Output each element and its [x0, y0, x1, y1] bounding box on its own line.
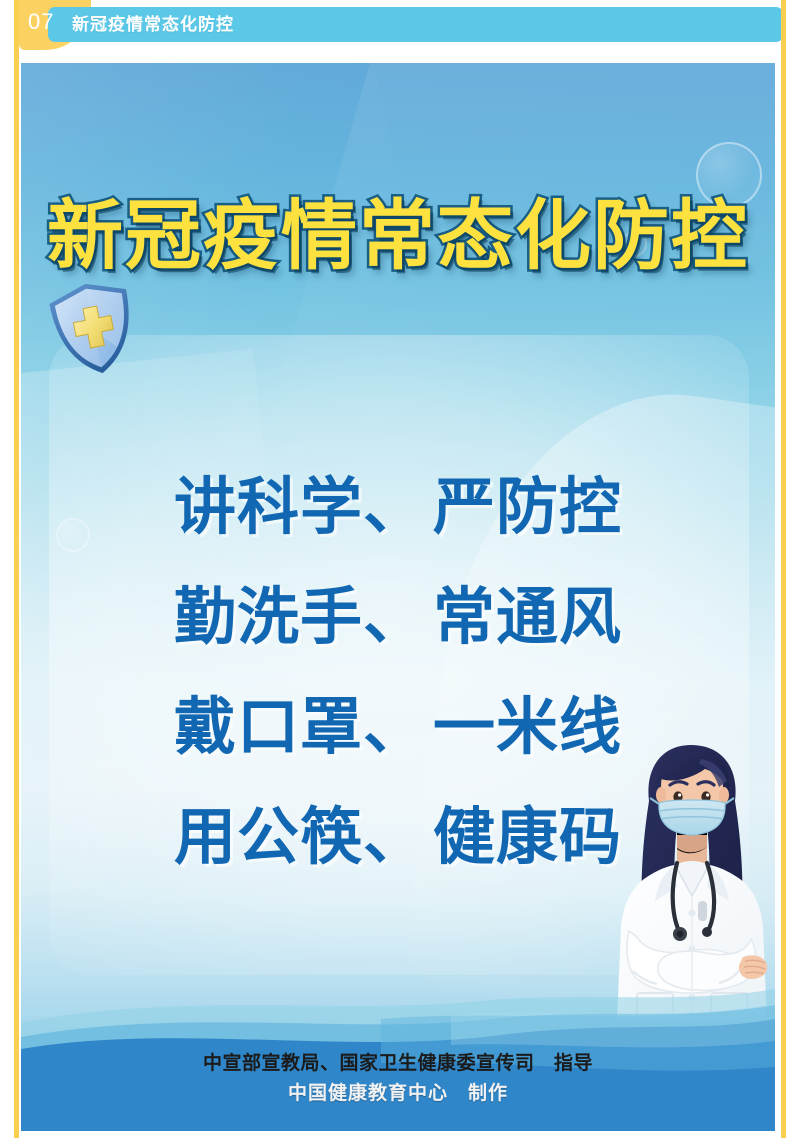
- header-number: 07: [28, 9, 54, 35]
- shield-cross-icon: [43, 274, 146, 385]
- slogan-separator: 、: [363, 583, 433, 652]
- slogan-left: 讲科学: [174, 473, 363, 542]
- left-yellow-rail: [14, 0, 19, 1138]
- slogan-separator: 、: [363, 693, 433, 762]
- header-title: 新冠疫情常态化防控: [72, 10, 234, 35]
- footer-producer-line: 中国健康教育中心 制作: [21, 1079, 775, 1109]
- right-yellow-rail: [781, 0, 786, 1138]
- slogan-line: 讲科学、严防控: [21, 453, 775, 563]
- slogan-left: 用公筷: [174, 803, 363, 872]
- slogan-separator: 、: [363, 473, 433, 542]
- footer-guidance-line: 中宣部宣教局、国家卫生健康委宣传司 指导: [21, 1049, 775, 1079]
- slogan-right: 常通风: [433, 583, 622, 652]
- footer-text-block: 中宣部宣教局、国家卫生健康委宣传司 指导 中国健康教育中心 制作: [21, 1049, 775, 1109]
- slogan-separator: 、: [363, 803, 433, 872]
- slogan-left: 勤洗手: [174, 583, 363, 652]
- slogan-left: 戴口罩: [174, 693, 363, 762]
- poster-page: 07 新冠疫情常态化防控 新冠疫情常态化防控: [0, 0, 800, 1138]
- slogan-line: 勤洗手、常通风: [21, 563, 775, 673]
- page-title: 新冠疫情常态化防控: [21, 199, 775, 275]
- slogan-right: 严防控: [433, 473, 622, 542]
- poster-body: 新冠疫情常态化防控: [21, 63, 775, 1131]
